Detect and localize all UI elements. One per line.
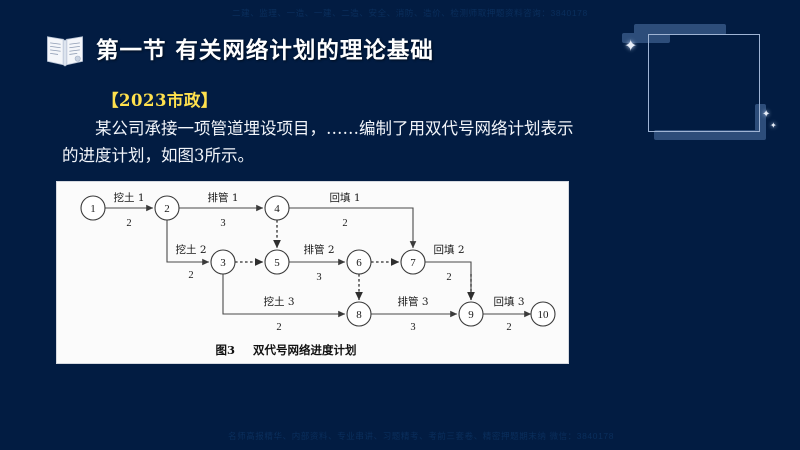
exam-source-tag: 【2023市政】 <box>102 87 218 111</box>
node-label: 2 <box>164 203 170 215</box>
watermark-top: 二建、监理、一造、一建、二造、安全、消防、造价、检测师取押题资料咨询：38401… <box>232 7 588 19</box>
node-label: 9 <box>468 309 474 321</box>
node-4: 4 <box>265 196 289 220</box>
activity-label-excavate-3: 挖土 3 <box>263 295 294 308</box>
activity-label-excavate-2: 挖土 2 <box>175 243 206 256</box>
node-label: 3 <box>220 257 226 269</box>
deco-frame-outline <box>648 34 760 132</box>
duration-excavate-2: 2 <box>188 270 193 281</box>
watermark-bottom: 名师高报精华、内部资料、专业串讲、习题精考、考前三套卷、精密押题期末纳 微信：3… <box>228 430 614 442</box>
activity-label-backfill-2: 回填 2 <box>433 243 464 256</box>
node-label: 8 <box>356 309 362 321</box>
node-1: 1 <box>81 196 105 220</box>
page-title: 第一节 有关网络计划的理论基础 <box>96 33 434 65</box>
edge-3-8 <box>223 274 345 314</box>
network-diagram-panel: 1 2 3 4 5 6 7 <box>57 182 568 363</box>
node-label: 1 <box>90 203 96 215</box>
sparkle-icon-large: ✦ <box>624 38 637 54</box>
node-label: 7 <box>410 257 416 269</box>
sparkle-icon-small: ✦ <box>770 122 777 130</box>
node-10: 10 <box>531 302 555 326</box>
question-paragraph: 某公司承接一项管道埋设项目，……编制了用双代号网络计划表示的进度计划，如图3所示… <box>62 115 582 169</box>
activity-label-pipe-1: 排管 1 <box>207 191 238 204</box>
duration-pipe-3: 3 <box>410 322 415 333</box>
figure-caption-number: 图3 <box>215 343 235 357</box>
duration-backfill-3: 2 <box>506 322 511 333</box>
duration-pipe-1: 3 <box>220 218 225 229</box>
duration-pipe-2: 3 <box>316 272 321 283</box>
activity-label-pipe-3: 排管 3 <box>397 295 428 308</box>
duration-backfill-1: 2 <box>342 218 347 229</box>
decorative-frame: ✦ ✦ ✦ <box>612 18 782 140</box>
open-book-icon <box>44 28 86 70</box>
node-label: 5 <box>274 257 280 269</box>
node-6: 6 <box>347 250 371 274</box>
node-label: 4 <box>274 203 280 215</box>
node-5: 5 <box>265 250 289 274</box>
figure-caption-text: 双代号网络进度计划 <box>252 343 357 357</box>
activity-label-excavate-1: 挖土 1 <box>113 191 144 204</box>
network-diagram-svg: 1 2 3 4 5 6 7 <box>57 182 568 363</box>
activity-label-backfill-3: 回填 3 <box>493 295 524 308</box>
activity-label-backfill-1: 回填 1 <box>329 191 360 204</box>
node-9: 9 <box>459 302 483 326</box>
node-3: 3 <box>211 250 235 274</box>
activity-label-pipe-2: 排管 2 <box>303 243 334 256</box>
node-label: 6 <box>356 257 362 269</box>
page-title-row: 第一节 有关网络计划的理论基础 <box>44 28 434 70</box>
duration-backfill-2: 2 <box>446 272 451 283</box>
duration-excavate-3: 2 <box>276 322 281 333</box>
slide-canvas: 二建、监理、一造、一建、二造、安全、消防、造价、检测师取押题资料咨询：38401… <box>0 0 800 450</box>
node-7: 7 <box>401 250 425 274</box>
node-8: 8 <box>347 302 371 326</box>
duration-excavate-1: 2 <box>126 218 131 229</box>
node-2: 2 <box>155 196 179 220</box>
node-label: 10 <box>538 309 550 321</box>
sparkle-icon-medium: ✦ <box>762 110 770 120</box>
edge-4-7 <box>289 208 413 248</box>
